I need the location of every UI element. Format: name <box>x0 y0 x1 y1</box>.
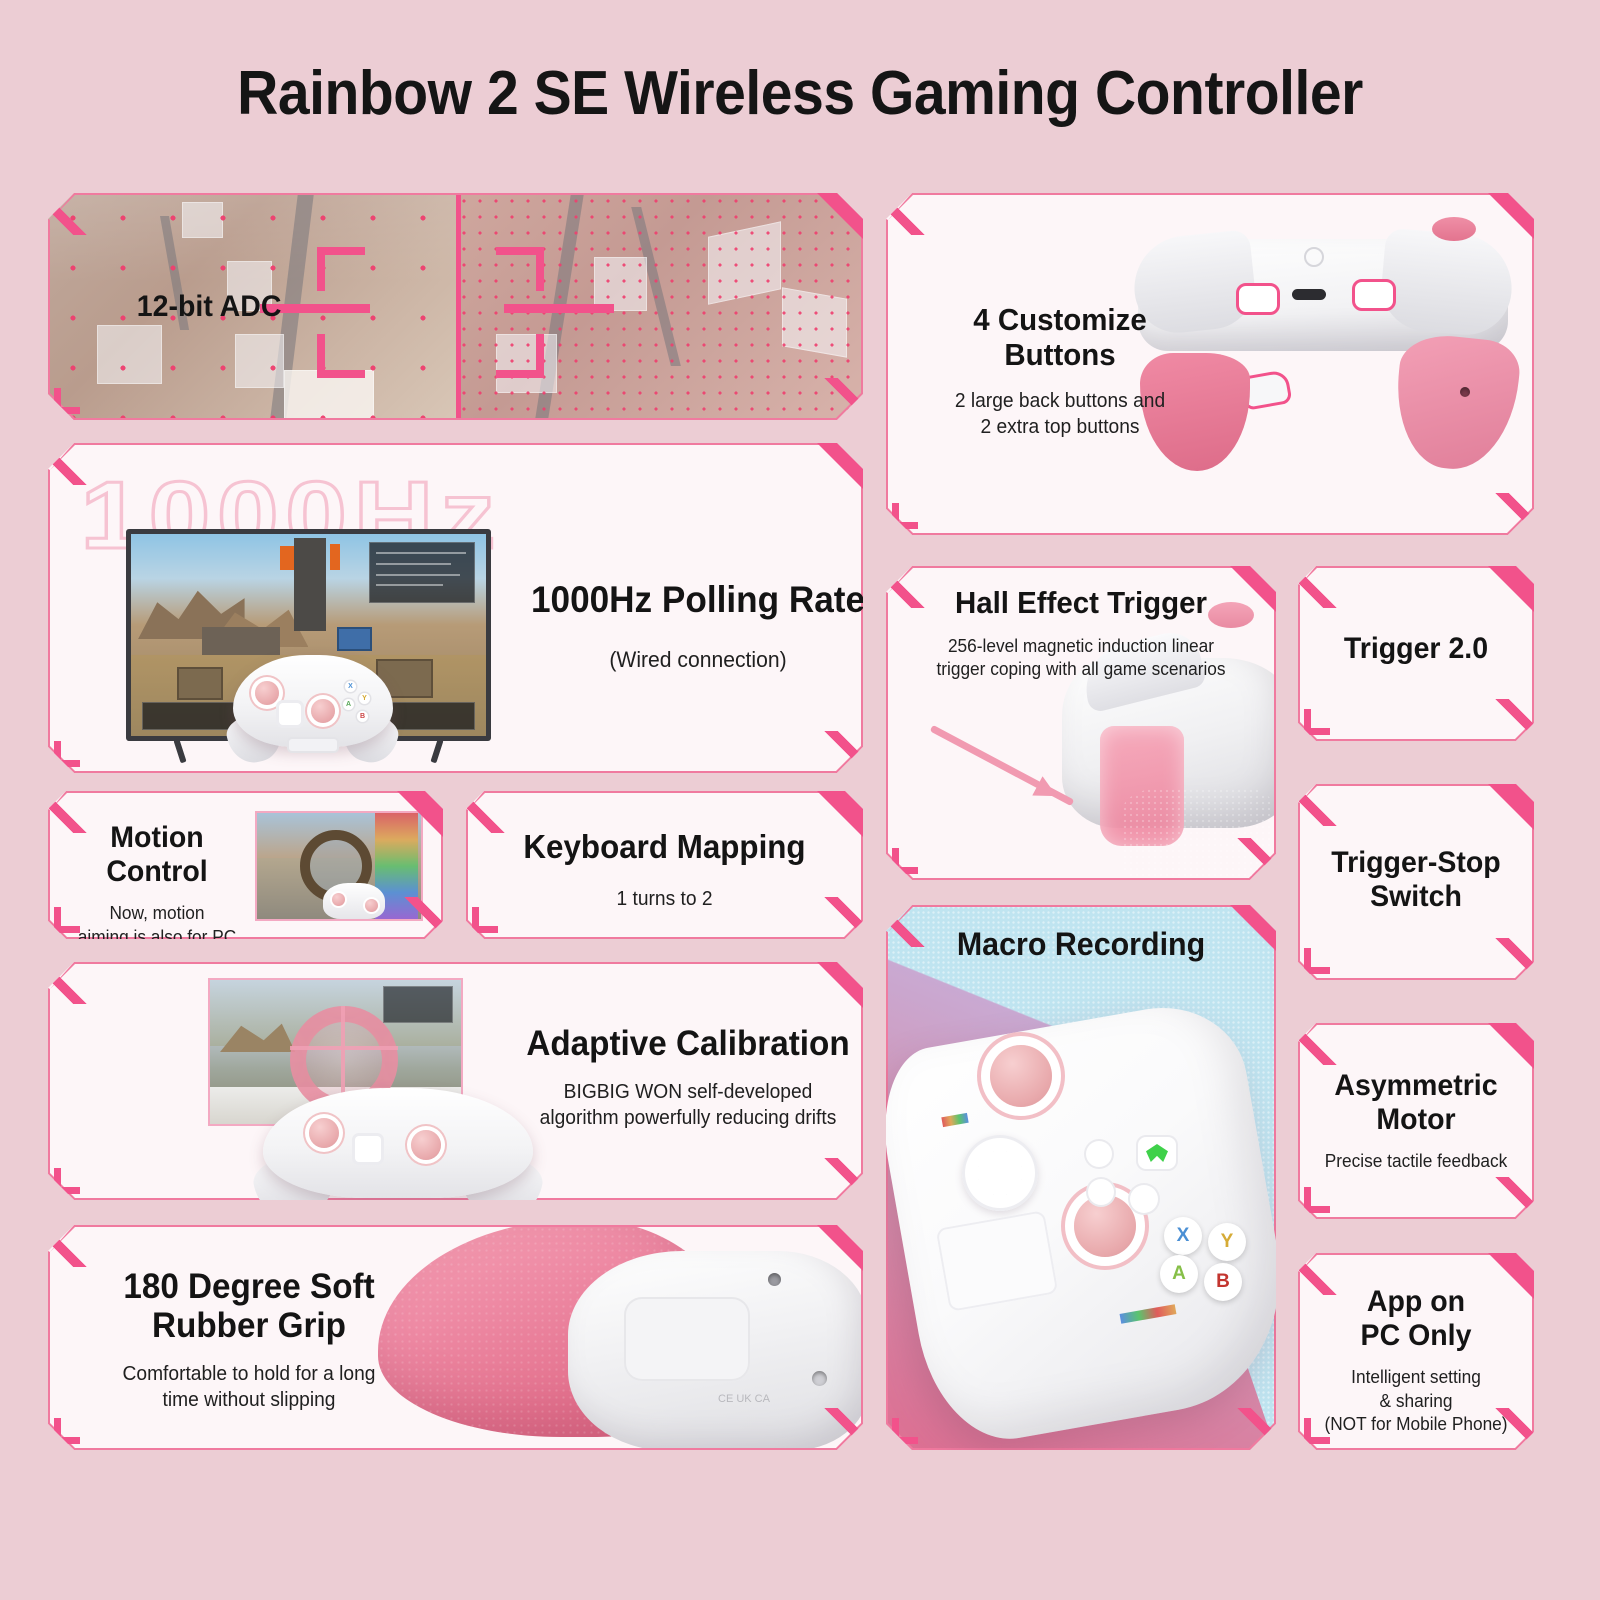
panel-motion-control: Motion Control Now, motion aiming is als… <box>48 791 443 939</box>
grip-right-pink <box>1389 331 1522 475</box>
hall-sub-line1: 256-level magnetic induction linear <box>894 635 1268 658</box>
button-a: A <box>343 699 354 710</box>
infographic-page: Rainbow 2 SE Wireless Gaming Controller <box>0 0 1600 1600</box>
trigger20-heading: Trigger 2.0 <box>1304 632 1528 666</box>
adc-split-divider <box>456 193 461 420</box>
macro-button-b: B <box>1204 1263 1242 1301</box>
panel-macro-recording: X Y A B Macro Recording <box>886 905 1276 1450</box>
crosshair-reticle-right-top <box>496 247 544 291</box>
panel-asymmetric-motor: Asymmetric Motor Precise tactile feedbac… <box>1298 1023 1534 1219</box>
certification-marks: CE UK CA <box>718 1393 770 1405</box>
button-b: B <box>357 711 368 722</box>
app-sub-line3: (NOT for Mobile Phone) <box>1303 1413 1530 1436</box>
polling-heading: 1000Hz Polling Rate <box>518 579 864 620</box>
hall-sub-line2: trigger coping with all game scenarios <box>894 658 1268 681</box>
macro-left-stick <box>990 1045 1052 1107</box>
app-sub-line2: & sharing <box>1303 1390 1530 1413</box>
motor-heading-line2: Motor <box>1304 1103 1528 1137</box>
motion-heading-line2: Control <box>67 855 248 889</box>
panel-rubber-grip: CE UK CA 180 Degree Soft Rubber Grip Com… <box>48 1225 863 1450</box>
macro-button-a: A <box>1160 1255 1198 1293</box>
polling-sub: (Wired connection) <box>516 646 863 675</box>
calibration-heading: Adaptive Calibration <box>498 1024 863 1063</box>
controller-front-image: X Y A B <box>233 655 393 747</box>
triggerstop-heading-line1: Trigger-Stop <box>1304 846 1528 880</box>
triggerstop-heading-line2: Switch <box>1304 880 1528 914</box>
panel-keyboard-mapping: Keyboard Mapping 1 turns to 2 <box>466 791 863 939</box>
crosshair-reticle-left-top <box>317 247 365 291</box>
motion-sub-line1: Now, motion <box>66 902 248 925</box>
keyboard-heading: Keyboard Mapping <box>476 829 853 866</box>
customize-sub-line2: 2 extra top buttons <box>916 414 1204 440</box>
motion-control-image <box>255 811 423 921</box>
button-y: Y <box>359 693 370 704</box>
macro-heading: Macro Recording <box>896 927 1267 963</box>
page-title: Rainbow 2 SE Wireless Gaming Controller <box>64 58 1536 129</box>
crosshair-reticle-left-bottom <box>317 334 365 378</box>
macro-controller-image: X Y A B <box>902 1023 1270 1423</box>
customize-heading-line1: 4 Customize <box>918 303 1203 338</box>
button-x: X <box>345 681 356 692</box>
panel-hall-effect-trigger: Hall Effect Trigger 256-level magnetic i… <box>886 566 1276 880</box>
panel-12bit-adc: 12-bit ADC <box>48 193 863 420</box>
keyboard-sub: 1 turns to 2 <box>474 886 855 912</box>
grip-sub-line1: Comfortable to hold for a long <box>81 1361 417 1387</box>
grip-sub-line2: time without slipping <box>81 1387 417 1413</box>
motor-sub: Precise tactile feedback <box>1303 1150 1530 1173</box>
customize-button-top-left <box>1236 283 1280 315</box>
app-heading-line1: App on <box>1304 1285 1528 1319</box>
panel-app-pc-only: App on PC Only Intelligent setting & sha… <box>1298 1253 1534 1450</box>
adc-label: 12-bit ADC <box>137 290 282 324</box>
motor-heading-line1: Asymmetric <box>1304 1069 1528 1103</box>
panel-trigger-stop-switch: Trigger-Stop Switch <box>1298 784 1534 980</box>
guide-button <box>1138 1137 1176 1169</box>
calibration-sub-line2: algorithm powerfully reducing drifts <box>496 1105 863 1131</box>
motion-heading-line1: Motion <box>67 821 248 855</box>
app-sub-line1: Intelligent setting <box>1303 1366 1530 1389</box>
macro-button-y: Y <box>1208 1223 1246 1261</box>
grip-heading-line2: Rubber Grip <box>83 1306 416 1345</box>
calibration-sub-line1: BIGBIG WON self-developed <box>496 1079 863 1105</box>
crosshair-reticle-right-bottom <box>496 334 544 378</box>
customize-button-top-right <box>1352 279 1396 311</box>
app-heading-line2: PC Only <box>1304 1319 1528 1353</box>
grip-heading-line1: 180 Degree Soft <box>83 1267 416 1306</box>
controller-back-shell: CE UK CA <box>568 1251 863 1450</box>
adc-measure-bar-right <box>504 304 614 313</box>
motion-sub-line2: aiming is also for PC <box>66 926 248 939</box>
panel-polling-rate: 1000Hz <box>48 443 863 773</box>
hall-grip-texture <box>1122 788 1272 880</box>
customize-sub-line1: 2 large back buttons and <box>916 388 1204 414</box>
panel-trigger-20: Trigger 2.0 <box>1298 566 1534 741</box>
usb-c-port <box>1292 289 1326 300</box>
dpad <box>279 703 301 725</box>
hall-heading: Hall Effect Trigger <box>896 586 1267 621</box>
panel-customize-buttons: 4 Customize Buttons 2 large back buttons… <box>886 193 1534 535</box>
left-stick <box>255 681 279 705</box>
macro-button-x: X <box>1164 1217 1202 1255</box>
panel-adaptive-calibration: Adaptive Calibration BIGBIG WON self-dev… <box>48 962 863 1200</box>
customize-heading-line2: Buttons <box>918 338 1203 373</box>
right-stick <box>311 699 335 723</box>
